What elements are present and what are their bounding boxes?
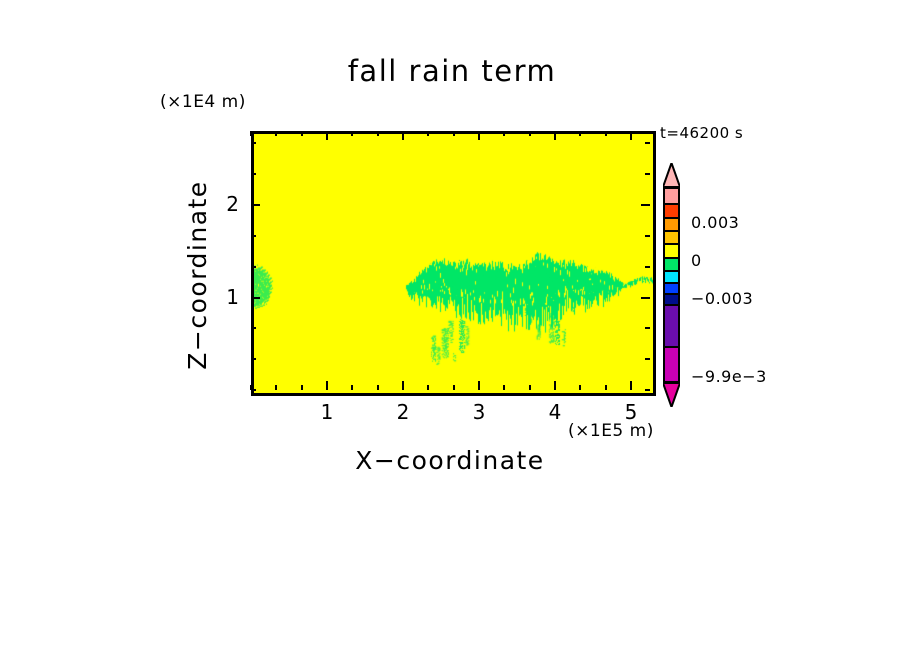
- y-minor-tick: [251, 173, 256, 175]
- x-major-tick-top: [402, 131, 404, 140]
- colorbar-band-orange: [663, 219, 680, 232]
- x-major-tick: [326, 381, 328, 390]
- x-minor-tick: [529, 385, 531, 390]
- colorbar-band-amber: [663, 232, 680, 245]
- x-minor-tick: [579, 385, 581, 390]
- y-minor-tick: [251, 142, 256, 144]
- x-minor-tick: [377, 385, 379, 390]
- y-axis-title: Z−coordinate: [183, 145, 223, 405]
- x-minor-tick-top: [250, 131, 252, 136]
- x-minor-tick: [351, 385, 353, 390]
- x-axis-unit-label: (×1E5 m): [568, 421, 654, 441]
- y-tick-label: 1: [199, 285, 239, 309]
- x-major-tick-top: [326, 131, 328, 140]
- x-major-tick-top: [630, 131, 632, 140]
- colorbar-band-orange-red: [663, 205, 680, 218]
- y-minor-tick: [251, 327, 256, 329]
- x-major-tick: [402, 381, 404, 390]
- y-minor-tick: [251, 358, 256, 360]
- y-major-tick: [251, 297, 260, 299]
- colorbar-band-yellow: [663, 245, 680, 258]
- x-minor-tick: [427, 385, 429, 390]
- colorbar-label: 0: [691, 251, 702, 270]
- colorbar-top-arrow-icon: [663, 163, 680, 187]
- colorbar-band-navy: [663, 295, 680, 306]
- y-axis-title-wrap: Z−coordinate: [183, 145, 223, 405]
- y-minor-tick-right: [645, 327, 650, 329]
- x-minor-tick-top: [453, 131, 455, 136]
- x-minor-tick-top: [503, 131, 505, 136]
- colorbar: [663, 187, 680, 383]
- x-major-tick-top: [554, 131, 556, 140]
- y-minor-tick-right: [645, 235, 650, 237]
- x-tick-label: 2: [383, 400, 423, 424]
- colorbar-band-salmon: [663, 187, 680, 205]
- x-minor-tick-top: [605, 131, 607, 136]
- x-minor-tick: [275, 385, 277, 390]
- y-major-tick: [251, 204, 260, 206]
- colorbar-band-cyan: [663, 272, 680, 283]
- colorbar-label: −9.9e−3: [691, 367, 767, 386]
- y-minor-tick-right: [645, 358, 650, 360]
- y-axis-unit-label: (×1E4 m): [160, 92, 246, 112]
- y-major-tick-right: [641, 297, 650, 299]
- x-major-tick: [554, 381, 556, 390]
- plot-area: [254, 134, 653, 393]
- colorbar-band-blue: [663, 284, 680, 295]
- x-minor-tick-top: [529, 131, 531, 136]
- x-major-tick: [630, 381, 632, 390]
- y-tick-label: 2: [199, 192, 239, 216]
- x-minor-tick: [503, 385, 505, 390]
- x-minor-tick-top: [351, 131, 353, 136]
- page-title: fall rain term: [0, 54, 904, 88]
- x-tick-label: 3: [459, 400, 499, 424]
- x-minor-tick-top: [301, 131, 303, 136]
- x-minor-tick-top: [427, 131, 429, 136]
- y-minor-tick-right: [645, 389, 650, 391]
- x-minor-tick: [453, 385, 455, 390]
- colorbar-band-magenta: [663, 348, 680, 383]
- x-axis-title: X−coordinate: [250, 446, 650, 475]
- colorbar-band-spring-green: [663, 259, 680, 272]
- x-minor-tick-top: [377, 131, 379, 136]
- colorbar-label: −0.003: [691, 289, 753, 308]
- x-tick-label: 5: [611, 400, 651, 424]
- plot-panel: [251, 131, 656, 396]
- y-minor-tick: [251, 266, 256, 268]
- y-minor-tick: [251, 235, 256, 237]
- x-minor-tick-top: [579, 131, 581, 136]
- y-minor-tick-right: [645, 173, 650, 175]
- y-minor-tick: [251, 389, 256, 391]
- x-major-tick: [478, 381, 480, 390]
- y-major-tick-right: [641, 204, 650, 206]
- colorbar-bottom-arrow-icon: [663, 383, 680, 407]
- figure-root: fall rain term (×1E4 m) (×1E5 m) t=46200…: [0, 0, 904, 654]
- x-major-tick-top: [478, 131, 480, 140]
- x-minor-tick-top: [275, 131, 277, 136]
- timestamp-annotation: t=46200 s: [660, 124, 743, 142]
- x-minor-tick: [605, 385, 607, 390]
- x-minor-tick: [301, 385, 303, 390]
- colorbar-label: 0.003: [691, 213, 739, 232]
- x-tick-label: 4: [535, 400, 575, 424]
- field-heatmap: [254, 134, 653, 393]
- x-tick-label: 1: [307, 400, 347, 424]
- colorbar-band-purple: [663, 306, 680, 348]
- y-minor-tick-right: [645, 142, 650, 144]
- y-minor-tick-right: [645, 266, 650, 268]
